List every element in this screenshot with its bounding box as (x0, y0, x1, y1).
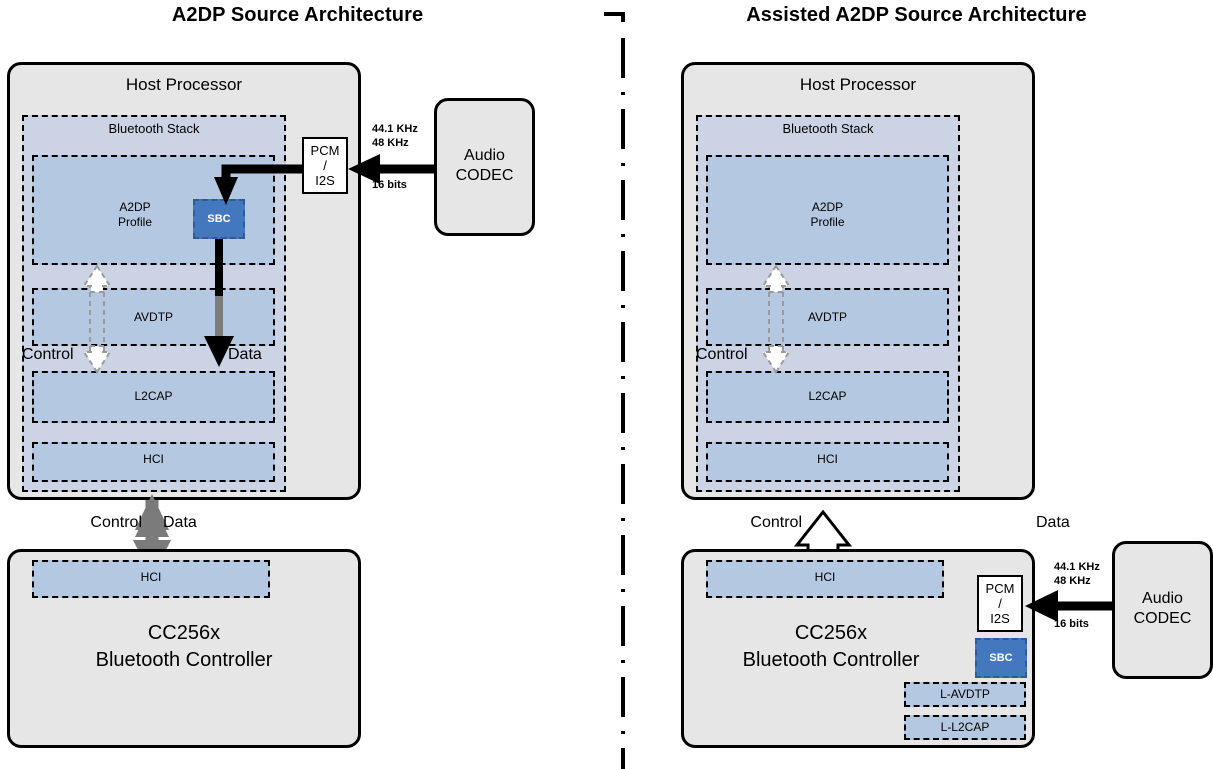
right-rate2: 48 KHz (1054, 575, 1091, 587)
right-codec-arrow (0, 0, 1213, 769)
diagram-canvas: A2DP Source Architecture Assisted A2DP S… (0, 0, 1213, 769)
right-rate1: 44.1 KHz (1054, 561, 1100, 573)
right-codec-bits-label: 16 bits (1054, 617, 1134, 631)
right-codec-rate-label: 44.1 KHz 48 KHz (1054, 560, 1134, 588)
